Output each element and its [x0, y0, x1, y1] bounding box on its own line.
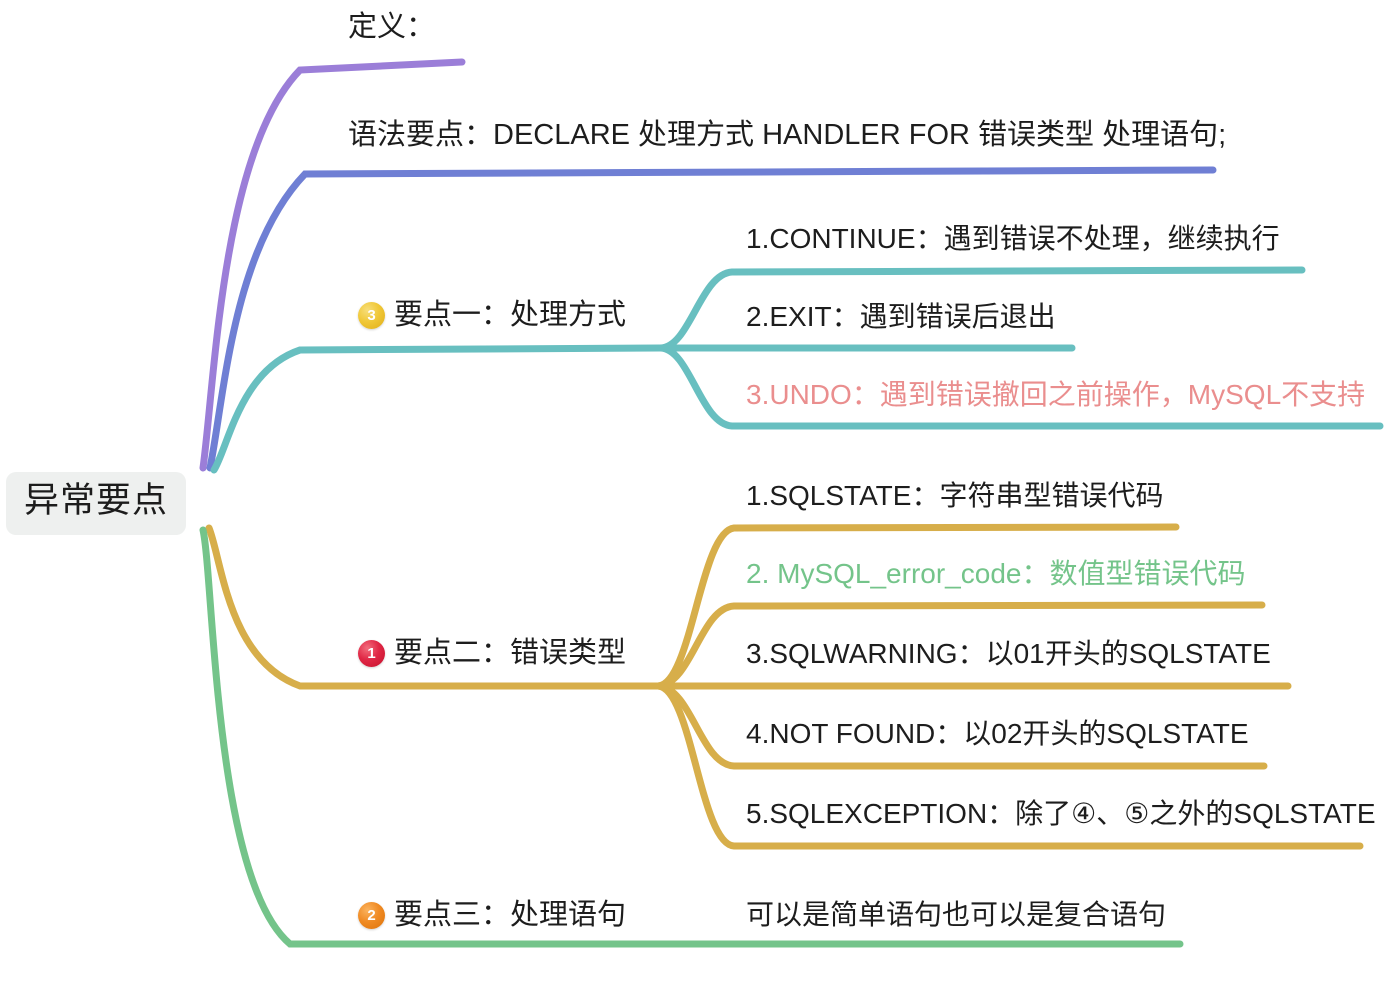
root-label: 异常要点	[24, 482, 168, 521]
node-exit-label: 2.EXIT：遇到错误后退出	[746, 302, 1056, 333]
node-error-type[interactable]: 1 要点二：错误类型	[358, 638, 626, 670]
node-sqlstate-label: 1.SQLSTATE：字符串型错误代码	[746, 481, 1163, 512]
root-node[interactable]: 异常要点	[6, 472, 186, 535]
badge-2-icon: 2	[358, 902, 385, 929]
node-sqlstate[interactable]: 1.SQLSTATE：字符串型错误代码	[746, 481, 1163, 512]
node-undo-label: 3.UNDO：遇到错误撤回之前操作，MySQL不支持	[746, 380, 1365, 411]
node-syntax-label: 语法要点：DECLARE 处理方式 HANDLER FOR 错误类型 处理语句;	[348, 120, 1226, 152]
node-sqlwarning[interactable]: 3.SQLWARNING：以01开头的SQLSTATE	[746, 639, 1271, 670]
node-handler-action-label: 要点一：处理方式	[394, 300, 626, 332]
node-syntax[interactable]: 语法要点：DECLARE 处理方式 HANDLER FOR 错误类型 处理语句;	[348, 120, 1226, 152]
node-exit[interactable]: 2.EXIT：遇到错误后退出	[746, 302, 1056, 333]
node-not-found[interactable]: 4.NOT FOUND：以02开头的SQLSTATE	[746, 719, 1249, 750]
node-error-type-label: 要点二：错误类型	[394, 638, 626, 670]
node-sqlwarning-label: 3.SQLWARNING：以01开头的SQLSTATE	[746, 639, 1271, 670]
node-continue-label: 1.CONTINUE：遇到错误不处理，继续执行	[746, 224, 1280, 255]
node-not-found-label: 4.NOT FOUND：以02开头的SQLSTATE	[746, 719, 1249, 750]
node-handler-action[interactable]: 3 要点一：处理方式	[358, 300, 626, 332]
badge-1-icon: 1	[358, 640, 385, 667]
mind-map-canvas: 异常要点 定义： 语法要点：DECLARE 处理方式 HANDLER FOR 错…	[0, 0, 1394, 990]
badge-3-icon: 3	[358, 302, 385, 329]
node-definition[interactable]: 定义：	[348, 12, 435, 44]
node-continue[interactable]: 1.CONTINUE：遇到错误不处理，继续执行	[746, 224, 1280, 255]
node-definition-label: 定义：	[348, 12, 435, 44]
node-sqlexception[interactable]: 5.SQLEXCEPTION：除了④、⑤之外的SQLSTATE	[746, 799, 1376, 830]
node-simple-or-compound-label: 可以是简单语句也可以是复合语句	[746, 900, 1166, 931]
node-undo[interactable]: 3.UNDO：遇到错误撤回之前操作，MySQL不支持	[746, 380, 1365, 411]
node-mysql-error-code-label: 2. MySQL_error_code：数值型错误代码	[746, 559, 1245, 590]
node-simple-or-compound[interactable]: 可以是简单语句也可以是复合语句	[746, 900, 1166, 931]
node-handler-statement-label: 要点三：处理语句	[394, 900, 626, 932]
node-handler-statement[interactable]: 2 要点三：处理语句	[358, 900, 626, 932]
node-sqlexception-label: 5.SQLEXCEPTION：除了④、⑤之外的SQLSTATE	[746, 799, 1376, 830]
node-mysql-error-code[interactable]: 2. MySQL_error_code：数值型错误代码	[746, 559, 1245, 590]
edge-handler-action	[214, 348, 660, 470]
